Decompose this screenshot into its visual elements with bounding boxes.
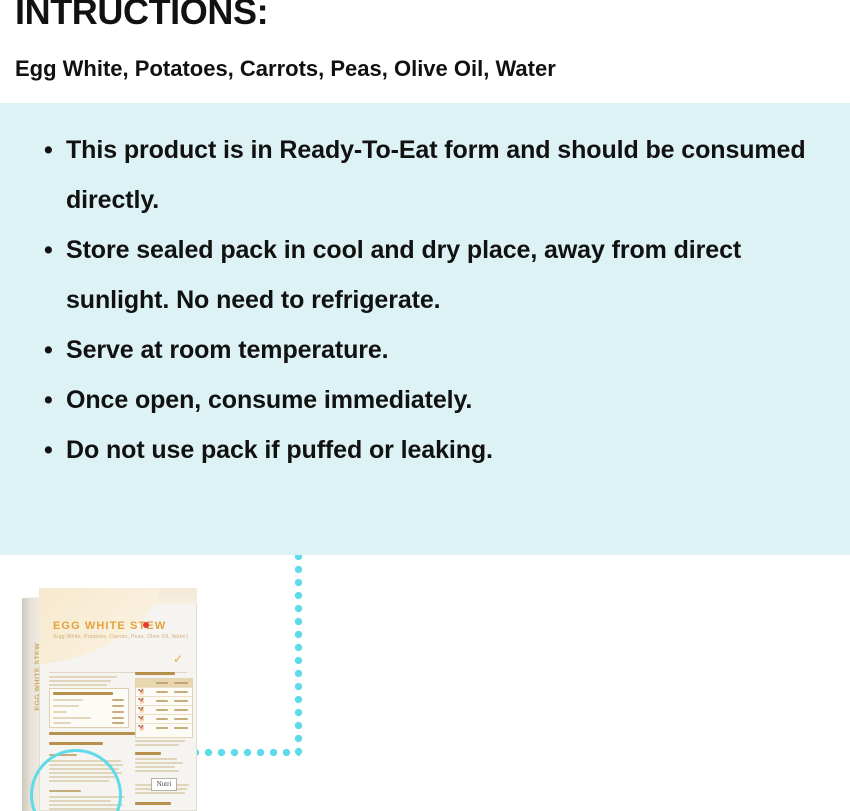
list-item-text: Serve at room temperature. [66,336,389,364]
package-net-weight-line [49,742,103,745]
table-cell [174,709,188,711]
list-item-text: Store sealed pack in cool and dry place,… [66,236,741,314]
ingredients-line: Egg White, Potatoes, Carrots, Peas, Oliv… [15,55,556,83]
table-row: 🐕 [136,724,192,733]
source-photo-area: EGG WHITE STEW EGG WHITE STEW (Egg White… [0,555,850,811]
table-cell [156,727,168,729]
table-cell [156,709,168,711]
page-header: INTRUCTIONS: Egg White, Potatoes, Carrot… [0,0,850,103]
table-row: 🐕 [136,715,192,724]
table-row: 🐕 [136,706,192,715]
table-cell [174,718,188,720]
table-row: 🐕 [136,697,192,706]
table-cell [156,718,168,720]
package-text-line [49,676,117,678]
feeding-chart-heading [135,672,175,675]
dog-icon: 🐕 [138,708,145,714]
package-text-line [135,792,185,794]
package-text-line [49,680,111,682]
nutrition-row-line [53,705,79,707]
nutrition-row-line [53,711,67,713]
nutrition-row-value [112,705,124,707]
nutrition-row-value [112,722,124,724]
nutrition-row-value [112,711,124,713]
product-package-photo: EGG WHITE STEW EGG WHITE STEW (Egg White… [22,588,197,811]
dog-icon: 🐕 [138,717,145,723]
bullet-icon: • [44,125,54,175]
instructions-panel: • This product is in Ready-To-Eat form a… [0,103,850,555]
package-text-line [135,770,179,772]
package-feeding-table: 🐕 🐕 🐕 🐕 [135,678,193,738]
bullet-icon: • [44,325,54,375]
bullet-icon: • [44,225,54,275]
package-text-line [49,684,107,686]
table-cell [174,700,188,702]
feeding-col-header [156,682,168,684]
chicken-icon: ✓ [173,654,185,664]
list-item: • Once open, consume immediately. [20,375,830,425]
instructions-list: • This product is in Ready-To-Eat form a… [20,125,830,475]
package-text-line [135,762,183,764]
nutrition-row-value [112,699,124,701]
list-item-text: Do not use pack if puffed or leaking. [66,436,493,464]
package-text-line [135,758,177,760]
package-section-heading [135,752,161,755]
list-item-text: This product is in Ready-To-Eat form and… [66,136,806,214]
list-item: • Serve at room temperature. [20,325,830,375]
nutrition-row-line [53,717,91,719]
list-item: • Do not use pack if puffed or leaking. [20,425,830,475]
dog-icon: 🐕 [138,690,145,696]
package-logo: Nutri [151,778,177,791]
veg-nonveg-mark-icon [143,622,149,628]
table-row: 🐕 [136,688,192,697]
table-cell [174,691,188,693]
list-item: • Store sealed pack in cool and dry plac… [20,225,830,325]
list-item-text: Once open, consume immediately. [66,386,472,414]
package-product-of-line [135,802,171,805]
dotted-connector-vertical [294,555,303,755]
table-cell [156,691,168,693]
page-title: INTRUCTIONS: [15,0,268,34]
instructions-page: INTRUCTIONS: Egg White, Potatoes, Carrot… [0,0,850,811]
bullet-icon: • [44,425,54,475]
nutrition-row-line [53,722,71,724]
bullet-icon: • [44,375,54,425]
nutrition-row-line [53,699,83,701]
list-item: • This product is in Ready-To-Eat form a… [20,125,830,225]
package-text-line [135,766,175,768]
package-brand-subtitle: (Egg White, Potatoes, Carrots, Peas, Oli… [53,634,188,640]
nutrition-heading-line [53,692,113,695]
package-brand-name: EGG WHITE STEW [53,620,166,632]
package-text-line [135,740,185,742]
dog-icon: 🐕 [138,699,145,705]
table-cell [156,700,168,702]
table-row [136,679,192,688]
feeding-col-header [174,682,188,684]
nutrition-row-value [112,717,124,719]
package-text-line [135,744,179,746]
table-cell [174,727,188,729]
package-nutrition-table [49,688,129,728]
dog-icon: 🐕 [138,726,145,732]
